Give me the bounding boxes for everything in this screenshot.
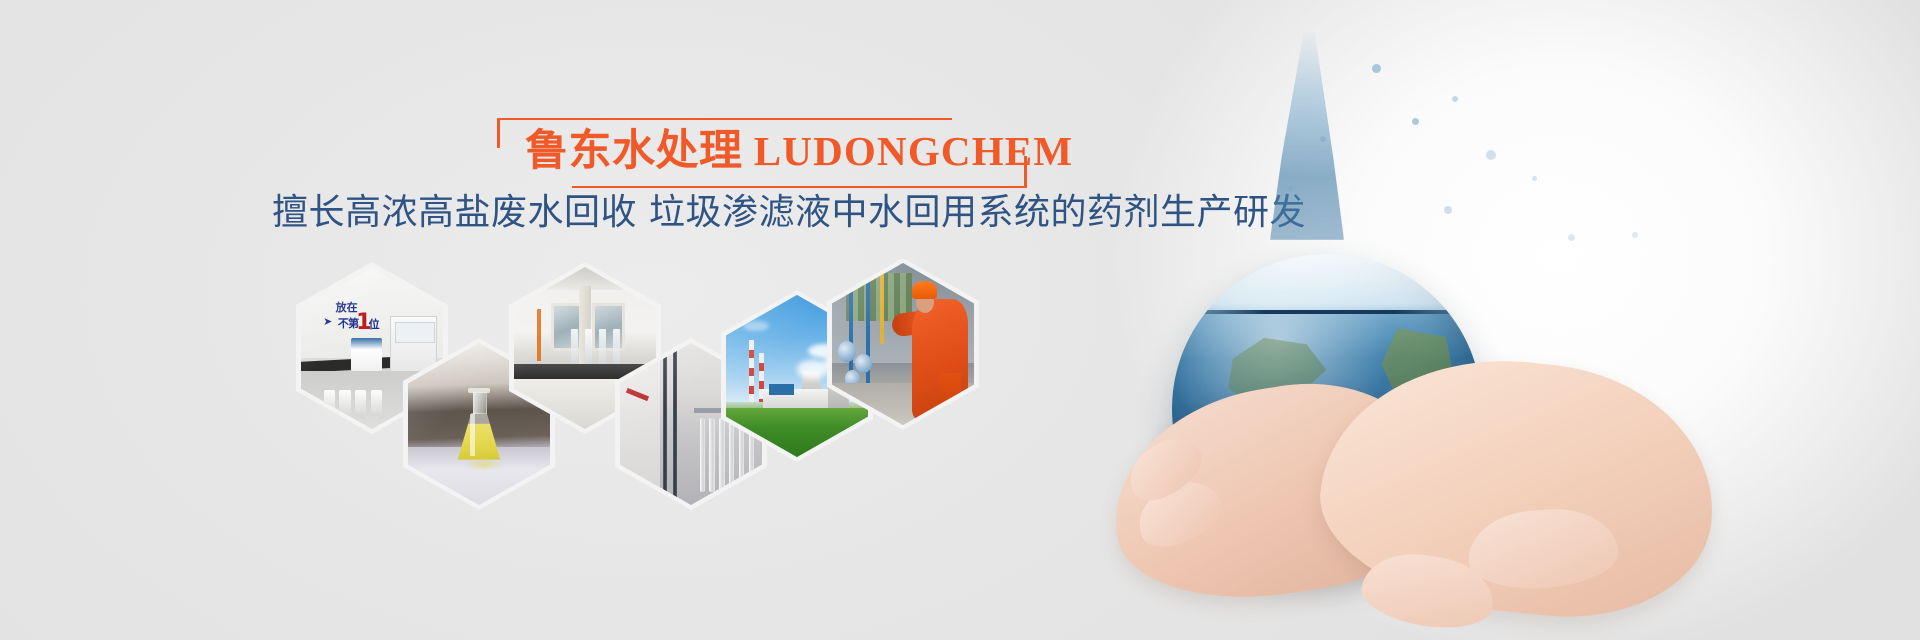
wall-slogan-line1: 放在: [336, 299, 358, 315]
hands-holding-water-globe: [1020, 0, 1920, 640]
hands: [1112, 360, 1732, 640]
hero-banner: 鲁东水处理 LUDONGCHEM 擅长高浓高盐废水回收 垃圾渗滤液中水回用系统的…: [0, 0, 1920, 640]
wall-slogan-wei: 位: [369, 316, 380, 332]
wall-slogan: 放在 ➤ 不 第 1 位: [321, 299, 378, 335]
wall-slogan-arrow-icon: ➤: [323, 315, 332, 328]
